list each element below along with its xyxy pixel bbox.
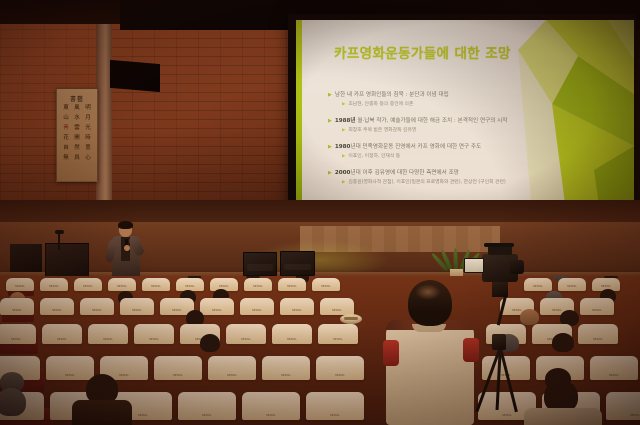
seat-tag: SEOUL (332, 309, 342, 312)
audience-seat: SEOUL (316, 356, 364, 380)
audience-seat: SEOUL (6, 278, 34, 291)
slide-bullet-list: ▶ 남한 내 카프 영화인들의 침묵 : 분단과 이념 대립 ▶ 조남현, 안종… (328, 82, 608, 186)
tripod-collar (492, 334, 506, 350)
presenter (106, 222, 146, 280)
shirt-sleeve-left (383, 340, 399, 366)
seat-tag: SEOUL (593, 338, 603, 341)
audience-seat: SEOUL (80, 298, 114, 315)
bullet-text: 년대 이후 김유영에 대한 다양한 측면에서 조망 (350, 170, 458, 176)
camera-lcd-screen (464, 258, 484, 273)
scroll-character: 明 (83, 104, 93, 113)
seat-tag: SEOUL (12, 309, 22, 312)
audience-seat: SEOUL (108, 278, 136, 291)
seat-tag: SEOUL (65, 374, 75, 377)
scroll-character: 開 (72, 134, 82, 143)
scroll-characters: 東風明山水月靑雲光花開時自然意無爲心 (61, 104, 93, 177)
scroll-character: 爲 (72, 154, 82, 163)
hat-band (344, 317, 358, 320)
audience-seat: SEOUL (578, 324, 618, 344)
audience-seat: SEOUL (244, 278, 272, 291)
seat-tag: SEOUL (15, 285, 25, 288)
audience-shoulders (72, 400, 132, 425)
stage-monitor-speaker (243, 252, 277, 276)
slide-bullet: ▶ 2000년대 이후 김유영에 대한 다양한 측면에서 조망 (328, 170, 608, 177)
seat-tag: SEOUL (117, 285, 127, 288)
tripod-head-mount (492, 281, 508, 297)
seat-tag: SEOUL (630, 414, 640, 417)
triangle-bullet-icon: ▶ (328, 144, 332, 151)
scroll-character: 無 (61, 154, 71, 163)
audience-seat: SEOUL (46, 356, 94, 380)
slide-accent-bar (296, 20, 302, 212)
audience-seat: SEOUL (142, 278, 170, 291)
seat-tag: SEOUL (185, 285, 195, 288)
scroll-character: 意 (83, 144, 93, 153)
seat-tag: SEOUL (609, 374, 619, 377)
scroll-character: 水 (72, 114, 82, 123)
audience-seat: SEOUL (312, 278, 340, 291)
audience-head (200, 334, 220, 352)
slide-title: 카프영화운동가들에 대한 조망 (334, 42, 511, 62)
straw-hat (340, 314, 362, 324)
bullet-lead: 1980 (335, 144, 351, 150)
seat-tag: SEOUL (253, 285, 263, 288)
audience-seat: SEOUL (200, 298, 234, 315)
audience-seat: SEOUL (320, 298, 354, 315)
seat-tag: SEOUL (103, 338, 113, 341)
scroll-title: 書藝 (57, 94, 97, 103)
audience-seat: SEOUL (40, 278, 68, 291)
seat-tag: SEOUL (57, 338, 67, 341)
ceiling-panel (110, 60, 160, 92)
bullet-text: 년대 민족영화운동 진영에서 카프 영화에 대한 연구 주도 (350, 144, 481, 150)
seat-tag: SEOUL (138, 414, 148, 417)
audience-shoulders (524, 408, 602, 425)
seat-tag: SEOUL (252, 309, 262, 312)
slide-subbullet: ▶ 김종원(영화사적 관점), 이효인(일본의 프로영화와 관련), 한상언 (… (342, 180, 608, 186)
scroll-character: 然 (72, 144, 82, 153)
camera-carry-handle (484, 243, 514, 247)
seat-tag: SEOUL (552, 309, 562, 312)
slide-bullet: ▶ 남한 내 카프 영화인들의 침묵 : 분단과 이념 대립 (328, 92, 608, 99)
audience-seat: SEOUL (0, 298, 34, 315)
audience-seat: SEOUL (580, 298, 614, 315)
presenter-hand (124, 245, 130, 251)
slide-subbullet: ▶ 조남현, 안종화 등의 증언에 의존 (342, 102, 608, 108)
seat-tag: SEOUL (567, 285, 577, 288)
slide-subbullet: ▶ 최창호 주목 받은 영화감독 김유영 (342, 128, 608, 134)
seat-tag: SEOUL (11, 338, 21, 341)
audience-seat: SEOUL (226, 324, 266, 344)
bullet-text: 남한 내 카프 영화인들의 침묵 : 분단과 이념 대립 (335, 92, 449, 98)
seat-tag: SEOUL (601, 285, 611, 288)
audience-seat: SEOUL (134, 324, 174, 344)
audience-head (0, 388, 26, 416)
seat-tag: SEOUL (241, 338, 251, 341)
audience-seat: SEOUL (272, 324, 312, 344)
slide-bullet: ▶ 1988년 월·납북 작가, 예술가들에 대한 해금 조치 : 본격적인 연… (328, 118, 608, 125)
plant-leaf (453, 248, 458, 270)
stage-monitor-speaker (280, 251, 315, 276)
scroll-character: 月 (83, 114, 93, 123)
bullet-text: 월·납북 작가, 예술가들에 대한 해금 조치 : 본격적인 연구의 시작 (356, 118, 508, 124)
triangle-bullet-icon: ▶ (328, 170, 332, 177)
scroll-character: 時 (83, 134, 93, 143)
scroll-character: 東 (61, 104, 71, 113)
seat-tag: SEOUL (83, 285, 93, 288)
seat-tag: SEOUL (92, 309, 102, 312)
seat-tag: SEOUL (151, 285, 161, 288)
triangle-bullet-icon: ▶ (328, 118, 332, 125)
polo-shirt (386, 320, 474, 425)
scroll-character: 山 (61, 114, 71, 123)
calligraphy-scroll: 書藝 東風明山水月靑雲光花開時自然意無爲心 (56, 88, 98, 182)
presenter-hair (118, 221, 133, 229)
audience-seat: SEOUL (88, 324, 128, 344)
seat-tag: SEOUL (49, 285, 59, 288)
audience-seat: SEOUL (240, 298, 274, 315)
subbullet-text: 최창호 주목 받은 영화감독 김유영 (348, 128, 416, 134)
subbullet-text: 김종원(영화사적 관점), 이효인(일본의 프로영화와 관련), 한상언 (구인… (348, 180, 505, 186)
seat-tag: SEOUL (227, 374, 237, 377)
scroll-character: 自 (61, 144, 71, 153)
seat-tag: SEOUL (172, 309, 182, 312)
audience-seat: SEOUL (590, 356, 638, 380)
subbullet-text: 이효인, 이정하, 안재석 등 (348, 154, 400, 160)
audience-seat: SEOUL (40, 298, 74, 315)
scroll-character: 靑 (61, 124, 71, 133)
seat-tag: SEOUL (281, 374, 291, 377)
audience-seat: SEOUL (0, 324, 36, 344)
scroll-character: 光 (83, 124, 93, 133)
audience-seat: SEOUL (154, 356, 202, 380)
seat-tag: SEOUL (219, 285, 229, 288)
camera-top-unit (488, 246, 512, 255)
microphone-icon (55, 230, 64, 234)
audience-seat: SEOUL (558, 278, 586, 291)
seat-tag: SEOUL (292, 309, 302, 312)
seat-tag: SEOUL (212, 309, 222, 312)
audience-seat: SEOUL (262, 356, 310, 380)
scroll-character: 心 (83, 154, 93, 163)
audience-head (552, 333, 574, 352)
audience-seat: SEOUL (242, 392, 300, 420)
seat-tag: SEOUL (287, 338, 297, 341)
lectern (45, 243, 89, 277)
seat-tag: SEOUL (119, 374, 129, 377)
audience-seat: SEOUL (306, 392, 364, 420)
video-camera-rig (466, 248, 538, 408)
seat-tag: SEOUL (592, 309, 602, 312)
triangle-bullet-icon: ▶ (328, 92, 332, 99)
seat-tag: SEOUL (149, 338, 159, 341)
standing-person-scalp (415, 284, 441, 300)
tripod-pan-handle (497, 296, 507, 326)
triangle-subbullet-icon: ▶ (342, 128, 345, 134)
seat-tag: SEOUL (335, 374, 345, 377)
seat-tag: SEOUL (502, 414, 512, 417)
audience-seat: SEOUL (606, 392, 640, 420)
stage-equipment-panel (10, 244, 42, 272)
audience-seating: SEOUL SEOUL SEOUL SEOUL SEOUL SEOUL SEOU… (0, 276, 640, 425)
audience-seat: SEOUL (176, 278, 204, 291)
audience-seat: SEOUL (74, 278, 102, 291)
seat-tag: SEOUL (202, 414, 212, 417)
subbullet-text: 조남현, 안종화 등의 증언에 의존 (348, 102, 413, 108)
bullet-lead: 2000 (335, 170, 351, 176)
seat-tag: SEOUL (321, 285, 331, 288)
seat-tag: SEOUL (330, 414, 340, 417)
slide-subbullet: ▶ 이효인, 이정하, 안재석 등 (342, 154, 608, 160)
triangle-subbullet-icon: ▶ (342, 102, 345, 108)
seat-tag: SEOUL (52, 309, 62, 312)
audience-seat: SEOUL (208, 356, 256, 380)
seat-tag: SEOUL (132, 309, 142, 312)
seat-tag: SEOUL (333, 338, 343, 341)
camera-lens-icon (510, 260, 524, 274)
scroll-character: 風 (72, 104, 82, 113)
audience-seat: SEOUL (42, 324, 82, 344)
microphone-stand (58, 234, 60, 250)
slide-bullet: ▶ 1980년대 민족영화운동 진영에서 카프 영화에 대한 연구 주도 (328, 144, 608, 151)
audience-seat: SEOUL (280, 298, 314, 315)
audience-seat: SEOUL (318, 324, 358, 344)
bullet-lead: 1988년 (335, 118, 356, 124)
seat-tag: SEOUL (173, 374, 183, 377)
triangle-subbullet-icon: ▶ (342, 154, 345, 160)
triangle-subbullet-icon: ▶ (342, 180, 345, 186)
seat-tag: SEOUL (266, 414, 276, 417)
audience-seat: SEOUL (178, 392, 236, 420)
lecture-hall-photo: 書藝 東風明山水月靑雲光花開時自然意無爲心 카프영화운동가들에 대한 조망 ▶ … (0, 0, 640, 425)
projected-slide: 카프영화운동가들에 대한 조망 ▶ 남한 내 카프 영화인들의 침묵 : 분단과… (296, 20, 634, 212)
seat-tag: SEOUL (287, 285, 297, 288)
scroll-character: 花 (61, 134, 71, 143)
audience-seat: SEOUL (120, 298, 154, 315)
audience-seat: SEOUL (278, 278, 306, 291)
scroll-character: 雲 (72, 124, 82, 133)
